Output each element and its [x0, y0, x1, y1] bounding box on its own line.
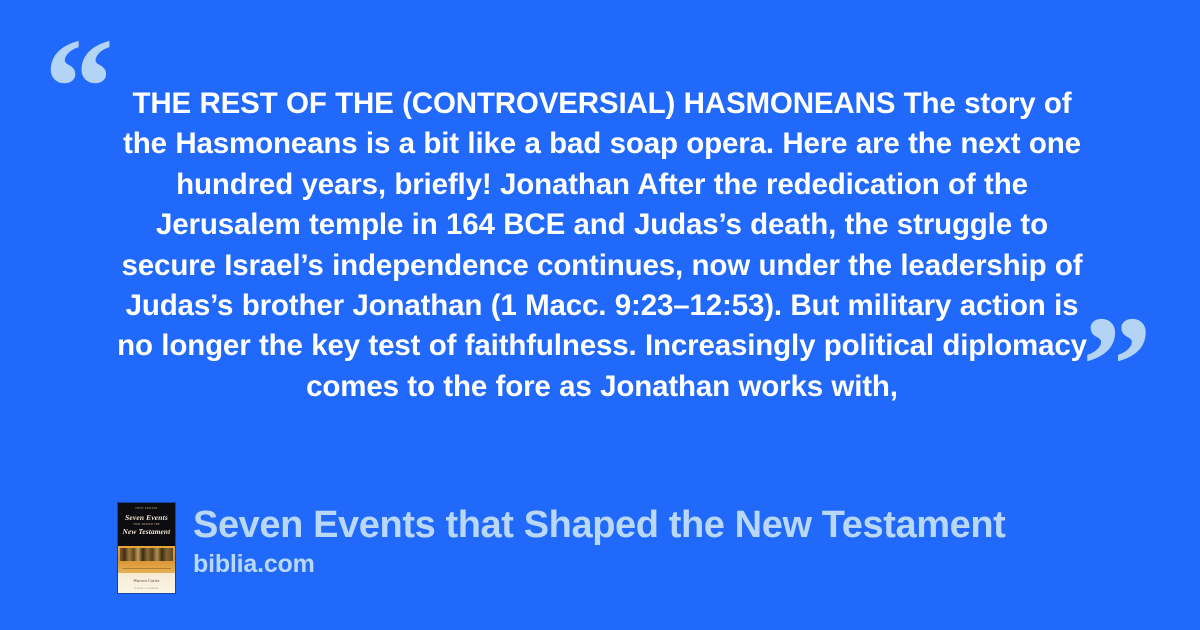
book-cover-publisher: BAKER ACADEMIC: [118, 587, 175, 590]
book-title: Seven Events that Shaped the New Testame…: [193, 503, 1005, 547]
book-cover-bottom-panel: Warren Carter BAKER ACADEMIC: [118, 573, 175, 593]
book-cover-subtitle: THAT SHAPED THE: [118, 523, 175, 526]
book-cover-thumbnail: FIRST EDITION Seven Events THAT SHAPED T…: [118, 503, 175, 593]
book-cover-kicker: FIRST EDITION: [118, 507, 175, 510]
site-name[interactable]: biblia.com: [193, 550, 1005, 579]
footer-text-block: Seven Events that Shaped the New Testame…: [193, 503, 1005, 579]
book-cover-title-line-2: New Testament: [118, 528, 175, 536]
quote-text: THE REST OF THE (CONTROVERSIAL) HASMONEA…: [110, 84, 1094, 407]
quote-region: “ THE REST OF THE (CONTROVERSIAL) HASMON…: [0, 0, 1200, 470]
book-cover-illustration-band: [118, 546, 175, 573]
opening-quote-mark: “: [44, 18, 114, 158]
book-cover-illustration: [120, 548, 173, 561]
book-cover-title-line-1: Seven Events: [118, 513, 175, 522]
book-cover-rule: [122, 568, 171, 569]
footer: FIRST EDITION Seven Events THAT SHAPED T…: [118, 503, 1005, 593]
book-cover-author: Warren Carter: [118, 578, 175, 583]
quote-card: “ THE REST OF THE (CONTROVERSIAL) HASMON…: [0, 0, 1200, 630]
book-cover-top-panel: FIRST EDITION Seven Events THAT SHAPED T…: [118, 503, 175, 546]
closing-quote-mark: ”: [1082, 296, 1152, 436]
